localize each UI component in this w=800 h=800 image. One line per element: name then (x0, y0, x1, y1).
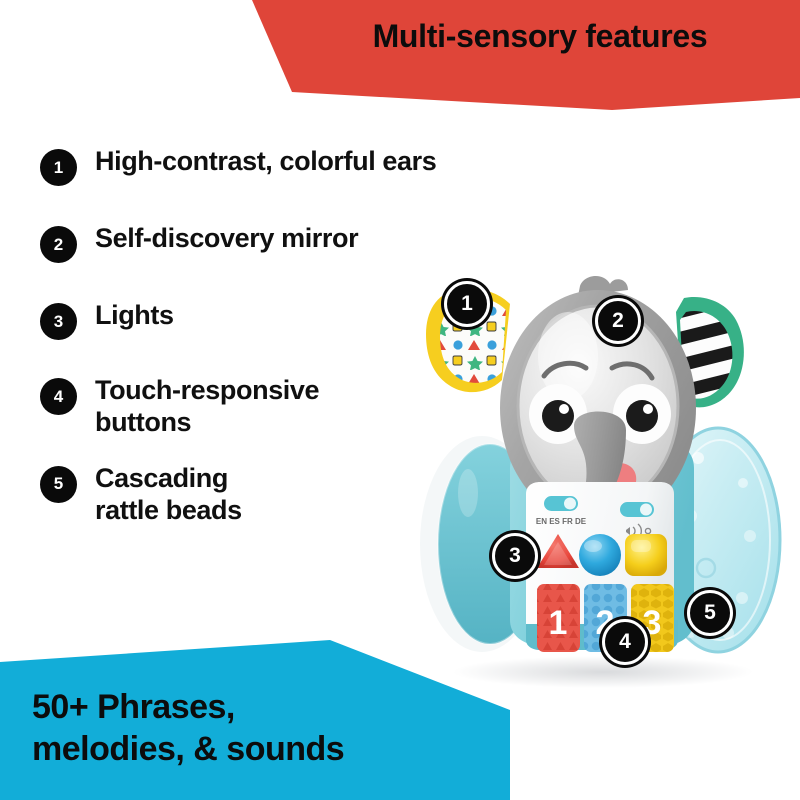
callout-badge-3: 3 (492, 533, 538, 579)
volume-toggle[interactable] (620, 502, 654, 517)
feature-badge-1: 1 (40, 149, 77, 186)
callout-badge-2: 2 (595, 298, 641, 344)
feature-label-1: High-contrast, colorful ears (95, 146, 436, 178)
feature-label-4: Touch-responsive buttons (95, 375, 319, 439)
feature-item-2: 2 Self-discovery mirror (40, 223, 440, 263)
feature-item-5: 5 Cascading rattle beads (40, 463, 440, 527)
shape-button-circle[interactable] (579, 534, 621, 576)
shape-button-square[interactable] (625, 534, 667, 576)
product-shadow (453, 656, 753, 688)
feature-badge-5: 5 (40, 466, 77, 503)
language-toggle[interactable] (544, 496, 578, 511)
number-pad-1[interactable]: 1 (537, 584, 580, 652)
footer-headline: 50+ Phrases, melodies, & sounds (32, 687, 482, 770)
feature-list: 1 High-contrast, colorful ears 2 Self-di… (40, 146, 440, 550)
callout-badge-4: 4 (602, 619, 648, 665)
header-banner (0, 0, 800, 110)
feature-label-3: Lights (95, 300, 174, 332)
feature-label-2: Self-discovery mirror (95, 223, 358, 255)
callout-badge-5: 5 (687, 590, 733, 636)
feature-item-4: 4 Touch-responsive buttons (40, 375, 440, 439)
feature-item-3: 3 Lights (40, 300, 440, 340)
svg-text:1: 1 (549, 604, 568, 642)
control-panel: EN ES FR DE 1 (526, 482, 674, 652)
feature-badge-4: 4 (40, 378, 77, 415)
page-title: Multi-sensory features (300, 19, 780, 54)
header-banner-shape (252, 0, 800, 110)
feature-label-5: Cascading rattle beads (95, 463, 242, 527)
feature-item-1: 1 High-contrast, colorful ears (40, 146, 440, 186)
callout-badge-1: 1 (444, 281, 490, 327)
language-label: EN ES FR DE (536, 517, 587, 526)
feature-badge-2: 2 (40, 226, 77, 263)
feature-badge-3: 3 (40, 303, 77, 340)
